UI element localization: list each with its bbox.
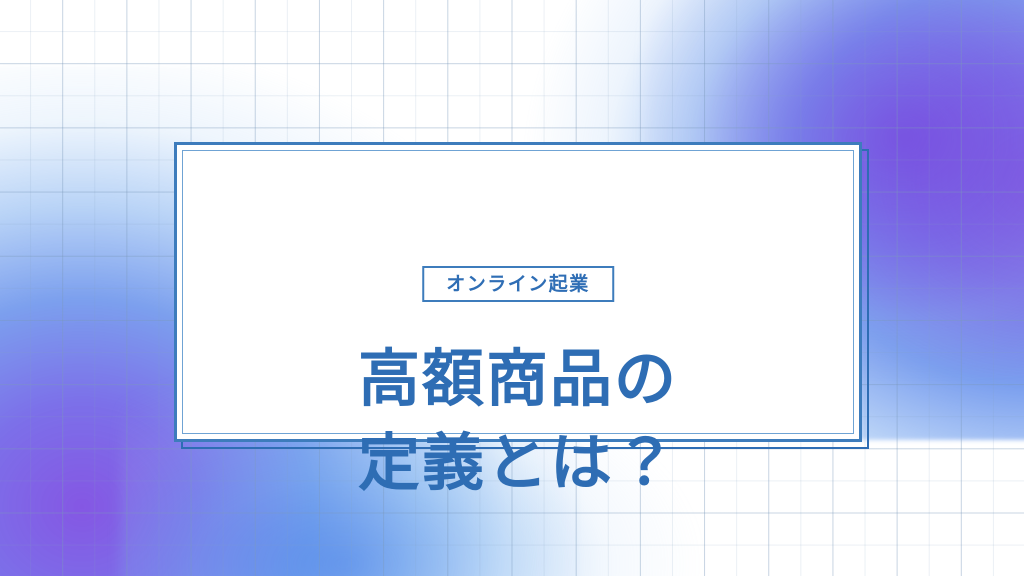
headline-line-1: 高額商品の	[174, 338, 862, 422]
category-badge-label: オンライン起業	[446, 275, 590, 294]
category-badge: オンライン起業	[422, 266, 614, 302]
content-card: オンライン起業 高額商品の 定義とは？	[174, 142, 862, 442]
slide-canvas: オンライン起業 高額商品の 定義とは？	[0, 0, 1024, 576]
headline-line-2: 定義とは？	[174, 422, 862, 506]
headline: 高額商品の 定義とは？	[174, 338, 862, 507]
